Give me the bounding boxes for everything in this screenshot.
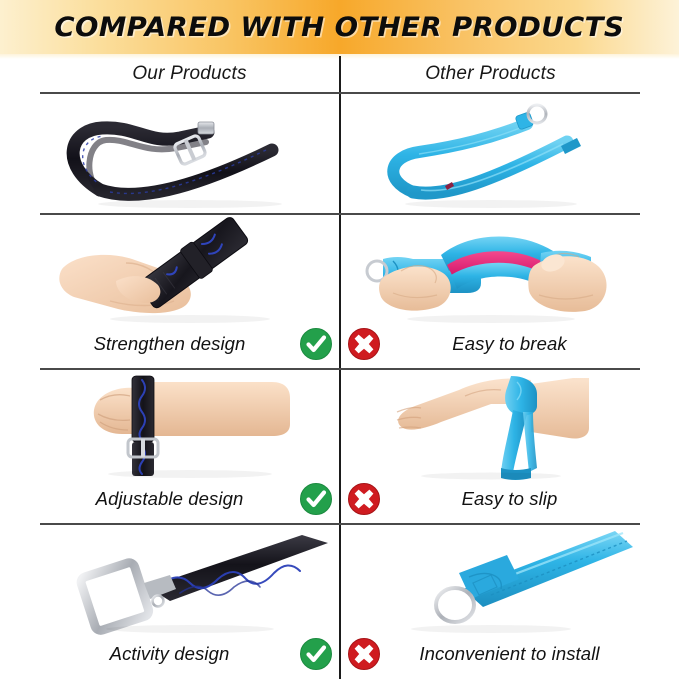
cell-others-row0 (341, 94, 640, 212)
hand-pulling-black-strap-illustration (40, 215, 339, 325)
caption-others-row3-text: Inconvenient to install (381, 643, 634, 665)
page-title: COMPARED WITH OTHER PRODUCTS (55, 12, 625, 43)
caption-others-row3: Inconvenient to install (341, 633, 640, 675)
hands-tearing-cyan-strap-illustration (341, 215, 640, 325)
column-header-others-label: Other Products (425, 63, 556, 85)
product-photo-others-row2 (341, 370, 640, 480)
black-strap-illustration (40, 94, 339, 212)
cross-icon (347, 327, 381, 361)
cell-others-row1: Easy to break (341, 215, 640, 367)
caption-ours-row2-text: Adjustable design (46, 488, 299, 510)
cross-icon (347, 482, 381, 516)
cyan-strap-slipping-off-hand-illustration (341, 370, 640, 480)
product-photo-others-row3 (341, 525, 640, 635)
product-photo-others-row0 (341, 94, 640, 212)
caption-ours-row1: Strengthen design (40, 323, 339, 365)
cyan-strap-illustration (341, 94, 640, 212)
column-header-ours-label: Our Products (132, 63, 246, 85)
cell-others-row3: Inconvenient to install (341, 525, 640, 677)
wrist-with-black-strap-illustration (40, 370, 339, 480)
caption-others-row2-text: Easy to slip (381, 488, 634, 510)
column-header-ours: Our Products (40, 58, 339, 90)
cell-ours-row2: Adjustable design (40, 370, 339, 522)
product-photo-others-row1 (341, 215, 640, 325)
product-photo-ours-row2 (40, 370, 339, 480)
caption-ours-row2: Adjustable design (40, 478, 339, 520)
caption-others-row1: Easy to break (341, 323, 640, 365)
caption-ours-row3-text: Activity design (46, 643, 299, 665)
header-banner: COMPARED WITH OTHER PRODUCTS (0, 0, 679, 54)
cell-others-row2: Easy to slip (341, 370, 640, 522)
column-header-others: Other Products (341, 58, 640, 90)
product-photo-ours-row3 (40, 525, 339, 635)
comparison-infographic: COMPARED WITH OTHER PRODUCTS Our Product… (0, 0, 679, 679)
product-photo-ours-row0 (40, 94, 339, 212)
black-strap-with-metal-clip-illustration (40, 525, 339, 635)
cell-ours-row1: Strengthen design (40, 215, 339, 367)
check-icon (299, 482, 333, 516)
cross-icon (347, 637, 381, 671)
caption-ours-row1-text: Strengthen design (46, 333, 299, 355)
caption-ours-row3: Activity design (40, 633, 339, 675)
caption-others-row2: Easy to slip (341, 478, 640, 520)
caption-others-row1-text: Easy to break (381, 333, 634, 355)
product-photo-ours-row1 (40, 215, 339, 325)
cyan-strap-with-metal-ring-illustration (341, 525, 640, 635)
cell-ours-row0 (40, 94, 339, 212)
cell-ours-row3: Activity design (40, 525, 339, 677)
check-icon (299, 327, 333, 361)
check-icon (299, 637, 333, 671)
